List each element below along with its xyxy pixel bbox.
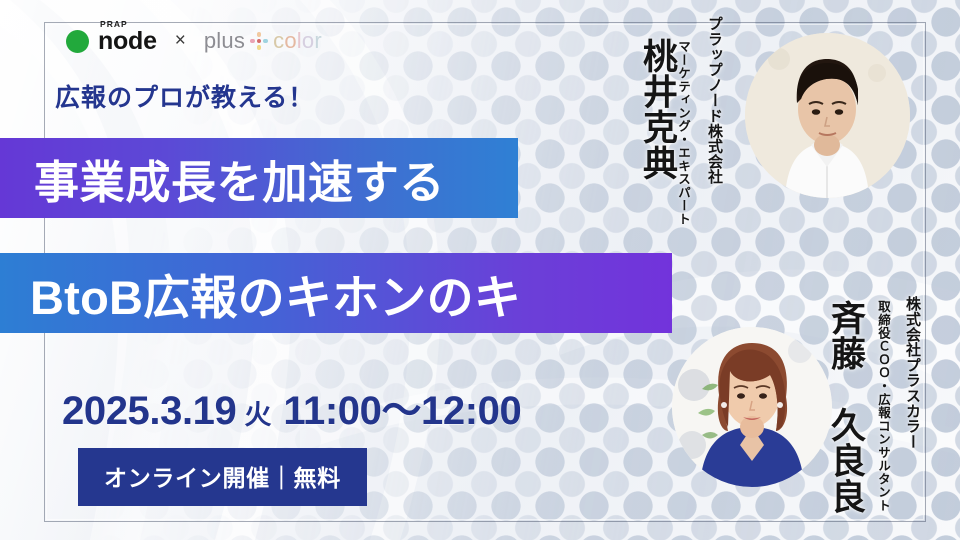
prap-node-logo: PRAP node bbox=[66, 29, 157, 54]
headline-bar-secondary: BtoB広報のキホンのキ bbox=[0, 253, 672, 333]
cross-separator-icon: × bbox=[175, 30, 186, 52]
speaker-2-role: 取締役ＣＯＯ・広報コンサルタント bbox=[874, 300, 893, 512]
prap-logo-superscript: PRAP bbox=[100, 20, 128, 29]
plus-color-logo-color: color bbox=[273, 28, 322, 54]
plus-color-logo: plus color bbox=[204, 28, 322, 54]
event-format-badge: オンライン開催｜無料 bbox=[78, 448, 367, 506]
logo-row: PRAP node × plus color bbox=[66, 28, 322, 54]
speaker-2-name: 斉藤 久良良 bbox=[820, 300, 871, 514]
four-dot-plus-icon bbox=[250, 32, 268, 50]
plus-color-logo-plus: plus bbox=[204, 28, 245, 54]
event-datetime: 2025.3.19 火 11:00～12:00 bbox=[62, 378, 521, 436]
speaker-1-name: 桃井克典 bbox=[632, 38, 683, 181]
prap-node-wordmark: PRAP node bbox=[98, 29, 157, 54]
event-date: 2025.3.19 bbox=[62, 389, 236, 434]
webinar-banner: PRAP node × plus color 広報のプロが教える！ 事業成長を加… bbox=[0, 0, 960, 540]
kicker-text: 広報のプロが教える！ bbox=[55, 78, 314, 114]
event-weekday: 火 bbox=[244, 393, 271, 432]
speaker-photo-male bbox=[745, 33, 910, 198]
headline-line2: BtoB広報のキホンのキ bbox=[30, 259, 521, 328]
headline-line1: 事業成長を加速する bbox=[34, 146, 445, 211]
prap-logo-word: node bbox=[98, 29, 157, 54]
event-time: 11:00～12:00 bbox=[283, 378, 521, 436]
green-circle-icon bbox=[66, 30, 89, 53]
speaker-photo-female bbox=[672, 327, 832, 487]
speaker-1-company: プラップノード株式会社 bbox=[704, 16, 725, 184]
speaker-2-company: 株式会社プラスカラー bbox=[902, 296, 923, 449]
headline-bar-primary: 事業成長を加速する bbox=[0, 138, 518, 218]
